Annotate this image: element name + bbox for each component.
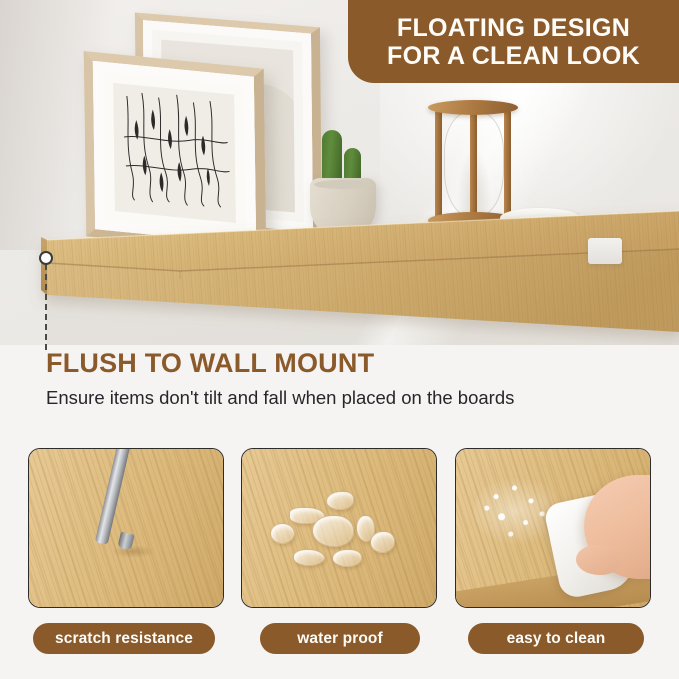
water-proof-photo xyxy=(241,448,437,608)
scratch-mark xyxy=(111,545,155,558)
wall-bracket xyxy=(588,238,622,264)
thumb-icon xyxy=(576,545,620,575)
dashed-leader-line-icon xyxy=(45,264,47,350)
water-droplet xyxy=(332,549,362,567)
scratch-resistance-photo xyxy=(28,448,224,608)
water-droplet xyxy=(312,515,354,547)
water-droplet xyxy=(326,491,354,510)
badge-easy-to-clean: easy to clean xyxy=(468,623,644,654)
water-droplet xyxy=(370,531,395,553)
water-droplet xyxy=(293,549,325,566)
badge-water-proof: water proof xyxy=(260,623,420,654)
easy-to-clean-photo xyxy=(455,448,651,608)
product-infographic-page: FLOATING DESIGN FOR A CLEAN LOOK FLUSH T… xyxy=(0,0,679,679)
header-banner: FLOATING DESIGN FOR A CLEAN LOOK xyxy=(348,0,679,83)
banner-line-1: FLOATING DESIGN xyxy=(397,14,630,42)
callout-title: FLUSH TO WALL MOUNT xyxy=(46,349,646,379)
callout-dot-icon xyxy=(39,251,53,265)
feature-scratch-resistance xyxy=(28,448,224,608)
badge-scratch-resistance: scratch resistance xyxy=(33,623,215,654)
wood-surface xyxy=(29,449,223,607)
callout-subtitle: Ensure items don't tilt and fall when pl… xyxy=(46,386,646,409)
water-droplet xyxy=(270,523,295,544)
feature-easy-to-clean xyxy=(455,448,651,608)
callout-text-block: FLUSH TO WALL MOUNT Ensure items don't t… xyxy=(46,349,646,409)
feature-water-proof xyxy=(241,448,437,608)
banner-line-2: FOR A CLEAN LOOK xyxy=(387,42,640,70)
